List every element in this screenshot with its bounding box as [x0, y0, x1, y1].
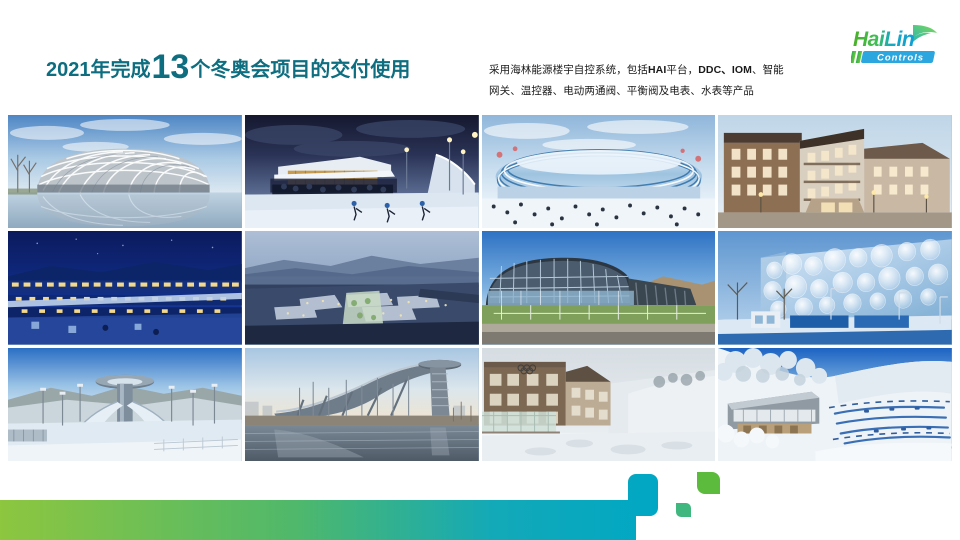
logo-artwork: HaiLin Controls — [851, 24, 951, 68]
gallery-photo-olympic-village-apartments-snow[interactable] — [482, 348, 716, 461]
description-line1-part2: 平台， — [666, 64, 698, 76]
footer-leaf-square-large — [697, 472, 720, 494]
gallery-photo-mountain-village-aerial-dusk[interactable] — [245, 231, 479, 344]
gallery-photo-zhangjiakou-ski-jump-venue-dusk[interactable] — [245, 115, 479, 228]
venue-photo-grid — [8, 115, 952, 461]
gallery-photo-athlete-village-night-lights[interactable] — [8, 231, 242, 344]
description-text: 采用海林能源楼宇自控系统，包括HAI平台，DDC、IOM、智能 网关、温控器、电… — [489, 60, 847, 102]
description-line2: 网关、温控器、电动两通阀、平衡阀及电表、水表等产品 — [489, 85, 754, 97]
gallery-photo-cross-country-biathlon-snow-course[interactable] — [718, 348, 952, 461]
description-line1-part1: 采用海林能源楼宇自控系统，包括 — [489, 64, 648, 76]
logo-wordmark-text: HaiLin — [853, 28, 914, 51]
title-highlight-number: 13 — [151, 50, 191, 84]
footer-decoration — [0, 460, 960, 540]
hailin-controls-logo: HaiLin Controls — [851, 24, 951, 68]
leaf-icon — [913, 25, 937, 42]
footer-artwork — [0, 460, 960, 540]
page-title: 2021年完成13个冬奥会项目的交付使用 — [46, 48, 410, 82]
title-prefix: 2021年完成 — [46, 60, 151, 80]
logo-green-bars — [851, 51, 862, 63]
description-line1-ddc-iom: DDC、IOM — [698, 64, 752, 76]
description-line1-hai: HAI — [648, 64, 666, 76]
gallery-photo-beijing-national-stadium-birds-nest[interactable] — [8, 115, 242, 228]
gallery-photo-snow-ruyi-ski-jump-winter[interactable] — [8, 348, 242, 461]
gallery-photo-water-cube-ice-cube-arena[interactable] — [718, 231, 952, 344]
title-suffix: 个冬奥会项目的交付使用 — [190, 60, 410, 80]
gallery-photo-national-speed-skating-oval-ice-ribbon[interactable] — [482, 115, 716, 228]
gallery-photo-snow-ruyi-ski-jump-reflection[interactable] — [245, 348, 479, 461]
gallery-photo-ski-resort-hotel-evening[interactable] — [718, 115, 952, 228]
description-line1-part3: 、智能 — [752, 64, 784, 76]
slide-header: 2021年完成13个冬奥会项目的交付使用 采用海林能源楼宇自控系统，包括HAI平… — [0, 0, 960, 112]
logo-tagline-text: Controls — [877, 53, 924, 64]
logo-controls-banner: Controls — [861, 51, 936, 64]
footer-leaf-square-small — [676, 503, 691, 517]
gallery-photo-glass-curved-roof-convention-center[interactable] — [482, 231, 716, 344]
footer-gradient-bar — [0, 474, 658, 540]
slide-canvas: 2021年完成13个冬奥会项目的交付使用 采用海林能源楼宇自控系统，包括HAI平… — [0, 0, 960, 540]
